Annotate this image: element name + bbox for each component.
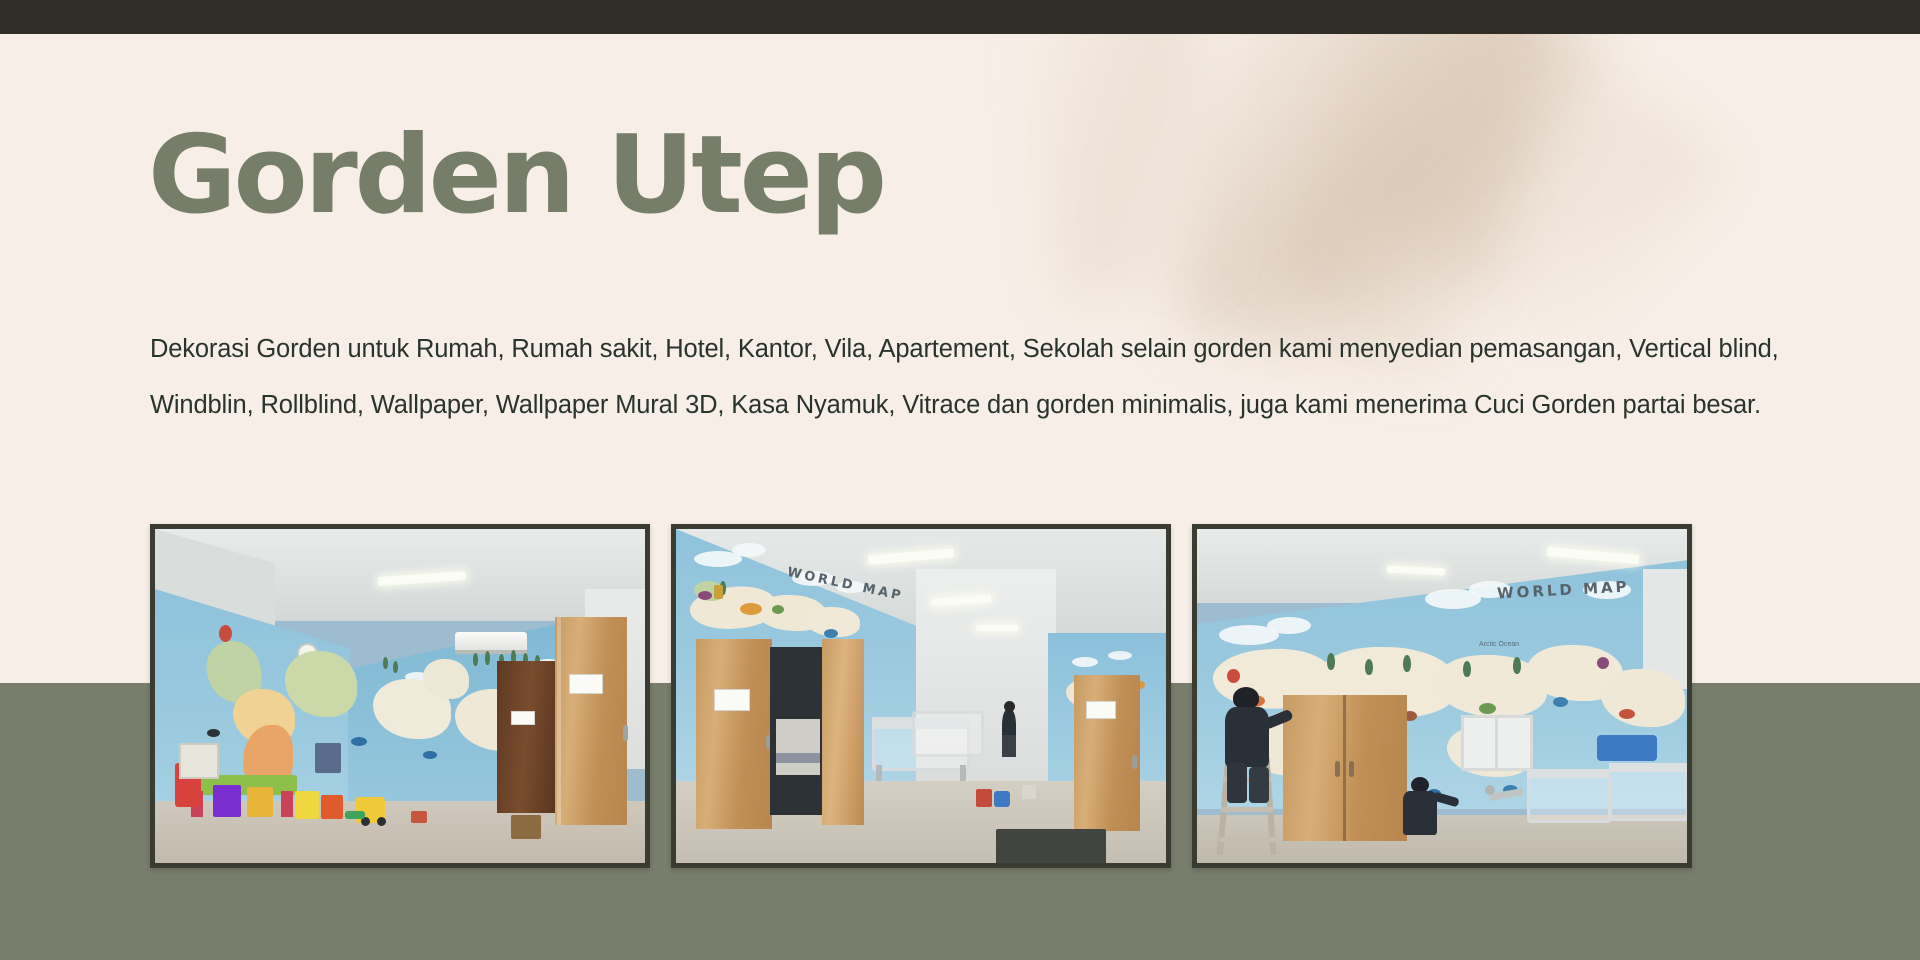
gallery-photo-2[interactable]: WORLD MAP bbox=[671, 524, 1171, 868]
photo-1-image bbox=[155, 529, 645, 863]
slide-content: Gorden Utep Dekorasi Gorden untuk Rumah,… bbox=[0, 0, 1920, 960]
top-bar bbox=[0, 0, 1920, 34]
photo-3-image: WORLD MAP AtlanticOcea bbox=[1197, 529, 1687, 863]
gallery-photo-1[interactable] bbox=[150, 524, 650, 868]
ocean-label-arctic: Arctic Ocean bbox=[1479, 641, 1519, 648]
description-paragraph: Dekorasi Gorden untuk Rumah, Rumah sakit… bbox=[150, 321, 1790, 433]
worker-head-icon bbox=[1233, 687, 1259, 709]
door-sign bbox=[714, 689, 750, 711]
photo-gallery: WORLD MAP bbox=[150, 524, 1785, 868]
page-title: Gorden Utep bbox=[148, 122, 884, 230]
slide-canvas: Gorden Utep Dekorasi Gorden untuk Rumah,… bbox=[0, 0, 1920, 960]
gallery-photo-3[interactable]: WORLD MAP AtlanticOcea bbox=[1192, 524, 1692, 868]
door-sign bbox=[511, 711, 535, 725]
photo-2-image: WORLD MAP bbox=[676, 529, 1166, 863]
